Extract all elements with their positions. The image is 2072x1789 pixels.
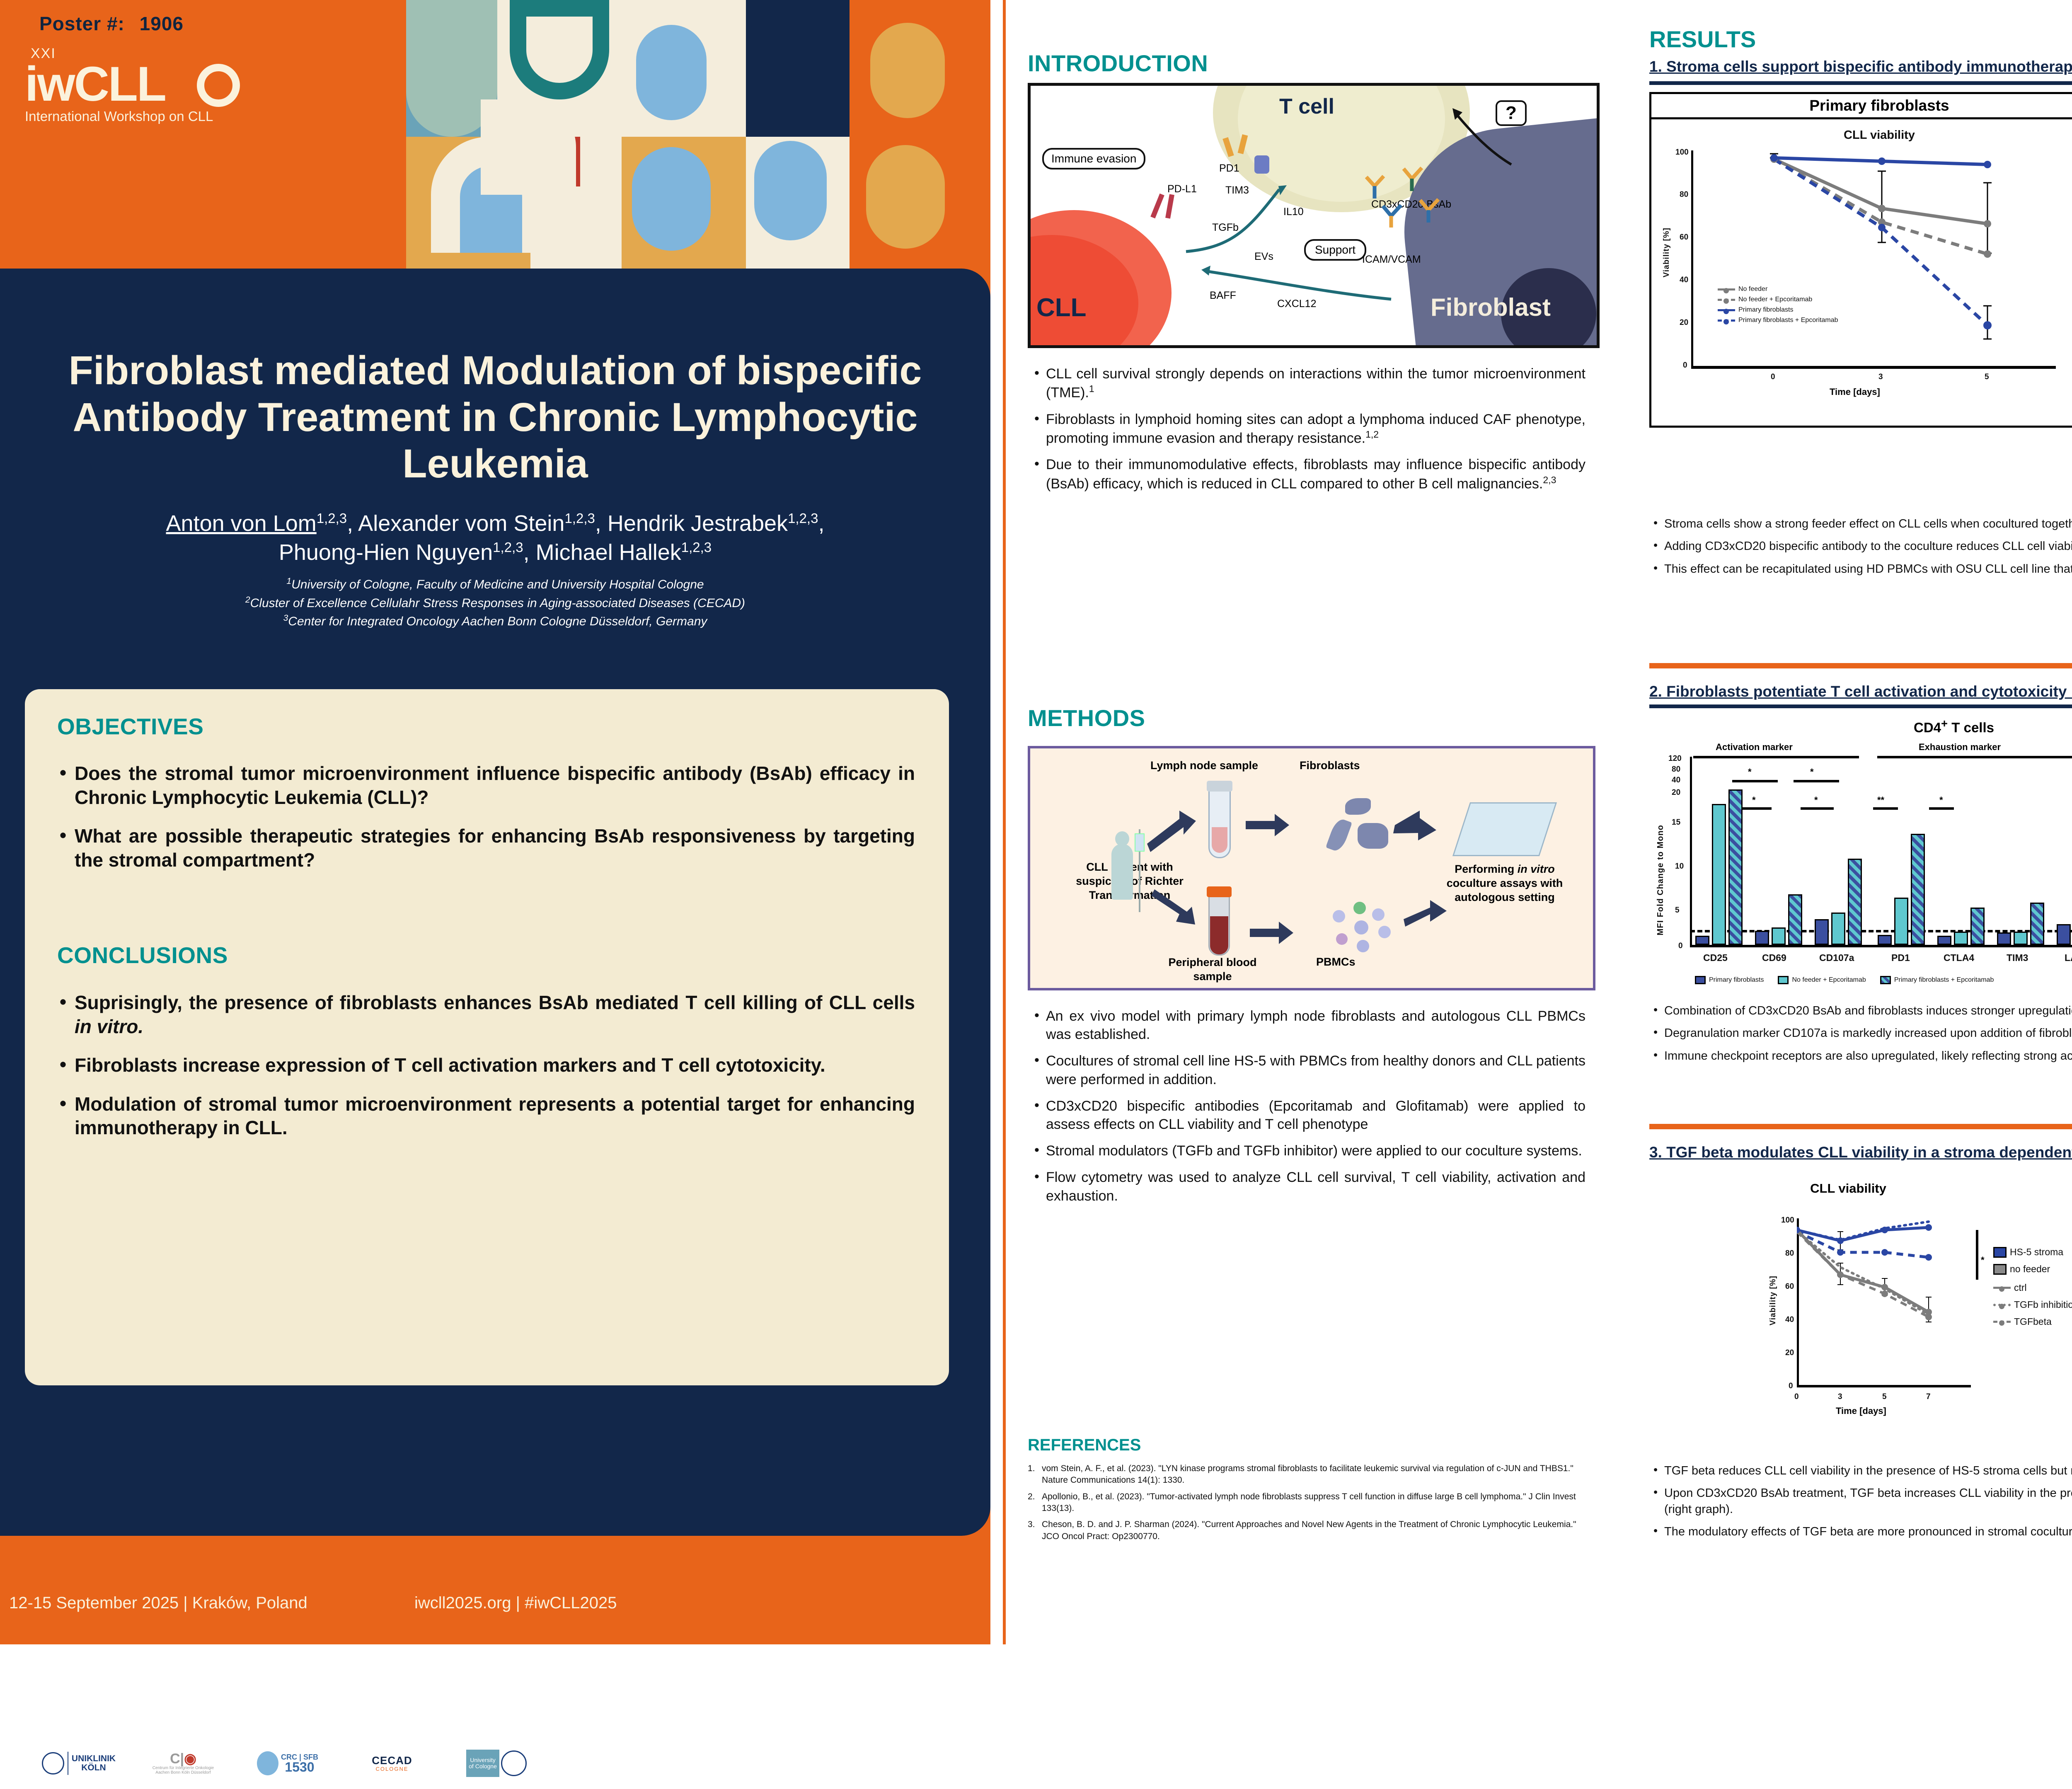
result1-bullet: Stroma cells show a strong feeder effect… — [1649, 516, 2072, 532]
tgfb-tc-legend-item: TGFb inhibition — [1993, 1299, 2072, 1310]
tgfb-tc-xtick: 0 — [1794, 1392, 1799, 1402]
cd4-chart-title: CD4+ T cells — [1653, 717, 2072, 736]
affiliation-item: 1University of Cologne, Faculty of Medic… — [37, 575, 953, 594]
panel-primary-fibroblasts: Primary fibroblasts CLL viability Viabil… — [1649, 92, 2072, 428]
cd4-xtick: TIM3 — [2007, 952, 2028, 963]
legend-line-icon — [1718, 288, 1735, 291]
author-list: Anton von Lom1,2,3, Alexander vom Stein1… — [37, 509, 953, 567]
contact-label: Contact: — [31, 1693, 94, 1712]
legend-swatch-icon — [1993, 1264, 2007, 1275]
poster-number-label: Poster #: — [39, 13, 125, 34]
introduction-heading: INTRODUCTION — [1028, 50, 1208, 77]
introduction-diagram: T cell CLL Fibroblast Immune evasion Sup… — [1028, 83, 1600, 348]
legend-line-icon — [1718, 299, 1735, 301]
legend-line-icon — [1993, 1304, 2011, 1306]
pf-ytick: 60 — [1680, 233, 1688, 242]
footer-website: iwcll2025.org | #iwCLL2025 — [414, 1594, 617, 1612]
methods-bullet: Stromal modulators (TGFb and TGFb inhibi… — [1030, 1142, 1585, 1160]
cecad-logo: CECAD COLOGNE — [343, 1738, 441, 1789]
tgfb-tc-xtick: 5 — [1882, 1392, 1887, 1402]
tgfb-tc-ytick: 60 — [1785, 1282, 1794, 1291]
cd4-ytick: 20 — [1672, 788, 1680, 797]
cd4-bar — [1772, 927, 1786, 945]
result1-separator — [1649, 663, 2072, 668]
tim3-receptor-icon — [1254, 155, 1269, 174]
tgfb-tc-sig: * — [1981, 1255, 1985, 1266]
methods-heading: METHODS — [1028, 704, 1145, 731]
cd4-bar — [1997, 932, 2011, 945]
introduction-bullets: CLL cell survival strongly depends on in… — [1030, 365, 1585, 501]
legend-line-icon — [1993, 1287, 2011, 1289]
references-heading: REFERENCES — [1028, 1436, 1141, 1455]
decorative-banner-artwork — [406, 0, 990, 274]
contact-email[interactable]: anton.von-lom@uk-koeln.de — [108, 1693, 321, 1712]
cd4-bar — [2014, 932, 2028, 945]
result1-bullet: Adding CD3xCD20 bispecific antibody to t… — [1649, 538, 2072, 554]
cd4-bar — [1695, 936, 1709, 945]
result2-rule — [1649, 704, 2072, 708]
cd4-bar — [1712, 804, 1726, 945]
poster-number: Poster #: 1906 — [39, 12, 184, 35]
results-heading: RESULTS — [1649, 26, 1756, 53]
cd4-bar — [1878, 935, 1892, 945]
result2-bullet: Immune checkpoint receptors are also upr… — [1649, 1048, 2072, 1064]
tgfb-tc-ytick: 80 — [1785, 1249, 1794, 1258]
pf-legend-item: No feeder — [1718, 286, 1838, 293]
cd4-ytick: 10 — [1675, 862, 1684, 871]
cd4-ytick: 120 — [1668, 754, 1682, 763]
tgfb-tc-legend-item: TGFbeta — [1993, 1316, 2072, 1327]
cd4-legend-item: No feeder + Epcoritamab — [1778, 976, 1866, 984]
pdl1-receptor-icon-2 — [1165, 194, 1174, 218]
cd4-bar — [1848, 859, 1862, 945]
introduction-bullet: CLL cell survival strongly depends on in… — [1030, 365, 1585, 402]
cd4-ytick: 0 — [1678, 942, 1683, 951]
conclusions-item: Fibroblasts increase expression of T cel… — [57, 1053, 915, 1077]
cd4-xtick: CD25 — [1703, 952, 1728, 963]
partner-logo-strip: UNIKLINIK KÖLN C|◉ Centrum für Integrier… — [30, 1738, 545, 1789]
legend-line-icon — [1718, 320, 1735, 322]
cll-label: CLL — [1036, 293, 1087, 322]
fibroblast-label: Fibroblast — [1431, 293, 1551, 322]
tgfb-tc-ytick: 100 — [1781, 1216, 1794, 1225]
cd4-xtick: CTLA4 — [1944, 952, 1974, 963]
footer-bar: 12-15 September 2025 | Kraków, Poland iw… — [0, 1566, 990, 1644]
cd4-bar — [1937, 936, 1951, 945]
pf-plot-area — [1691, 150, 2056, 367]
cd4-xtick: CD69 — [1762, 952, 1786, 963]
conclusions-item: Modulation of stromal tumor microenviron… — [57, 1092, 915, 1140]
result2-bullets: Combination of CD3xCD20 BsAb and fibrobl… — [1649, 1003, 2072, 1070]
tgfb-tc-sig-bracket — [1976, 1230, 1978, 1280]
pf-xtick: 0 — [1771, 373, 1775, 382]
methods-flow-arrows — [1030, 748, 1598, 993]
methods-bullets: An ex vivo model with primary lymph node… — [1030, 1007, 1585, 1213]
pf-legend-item: Primary fibroblasts + Epcoritamab — [1718, 317, 1838, 324]
pf-legend-item: Primary fibroblasts — [1718, 306, 1838, 314]
reference-item: 1. vom Stein, A. F., et al. (2023). "LYN… — [1028, 1463, 1591, 1486]
cd4-xtick: LAG3 — [2065, 952, 2072, 963]
page-title: Fibroblast mediated Modulation of bispec… — [37, 347, 953, 487]
cd4-legend-item: Primary fibroblasts + Epcoritamab — [1880, 976, 1994, 984]
cd4-bar — [1831, 913, 1845, 945]
iwcll-logo-subtitle: International Workshop on CLL — [25, 109, 240, 124]
title-panel: Fibroblast mediated Modulation of bispec… — [0, 269, 990, 1536]
result1-rule — [1649, 81, 2072, 85]
tgfb-tc-ytick: 0 — [1789, 1382, 1793, 1391]
cd4-bar — [1728, 789, 1743, 945]
cd4-bar — [1911, 834, 1925, 945]
t-cell-label: T cell — [1279, 94, 1334, 119]
result1-title: 1. Stroma cells support bispecific antib… — [1649, 58, 2072, 75]
panel-primary-fibroblasts-title: Primary fibroblasts — [1651, 94, 2072, 119]
cd4-legend: Primary fibroblasts No feeder + Epcorita… — [1695, 976, 1994, 987]
reference-item: 2. Apollonio, B., et al. (2023). "Tumor-… — [1028, 1491, 1591, 1515]
objectives-item: Does the stromal tumor microenvironment … — [57, 762, 915, 809]
conclusions-list: Suprisingly, the presence of fibroblasts… — [57, 991, 915, 1155]
cd4-bars — [1692, 742, 2072, 946]
ring-icon — [197, 64, 240, 107]
methods-diagram: Lymph node sample Fibroblasts CLL patien… — [1028, 746, 1595, 990]
tgfb-tc-legend-item: ctrl — [1993, 1282, 2072, 1293]
tgfb-tc-xtick: 3 — [1838, 1392, 1842, 1402]
cd4-y-axis-label: MFI Fold Change to Mono — [1656, 825, 1665, 935]
iwcll-logo: XXI iwCLL International Workshop on CLL — [25, 46, 240, 141]
cio-logo: C|◉ Centrum für Integrierte Onkologie Aa… — [134, 1738, 232, 1789]
references-list: 1. vom Stein, A. F., et al. (2023). "LYN… — [1028, 1463, 1591, 1547]
cd4-bar — [1970, 908, 1985, 945]
tgfb-tc-y-axis-label: Viability [%] — [1769, 1276, 1778, 1325]
pf-ytick: 80 — [1680, 190, 1688, 199]
result3-bullets: TGF beta reduces CLL cell viability in t… — [1649, 1463, 2072, 1546]
result2-bullet: Combination of CD3xCD20 BsAb and fibrobl… — [1649, 1003, 2072, 1019]
methods-bullet: Cocultures of stromal cell line HS-5 wit… — [1030, 1052, 1585, 1088]
chart-tgfb-timecourse: CLL viability Viability [%] 100 80 60 40… — [1662, 1181, 2072, 1446]
pf-legend: No feeder No feeder + Epcoritamab Primar… — [1718, 286, 1838, 327]
cd4-bar — [1894, 898, 1908, 945]
tgfb-tc-xtick: 7 — [1926, 1392, 1931, 1402]
tgfb-tc-legend-item: HS-5 stroma — [1993, 1247, 2072, 1258]
tgfb-tc-plot-area — [1797, 1218, 1971, 1386]
tgfb-tc-legend: HS-5 stroma no feeder ctrl TGFb inhibiti… — [1993, 1247, 2072, 1330]
tgfb-tc-ytick: 40 — [1785, 1315, 1794, 1324]
result3-title: 3. TGF beta modulates CLL viability in a… — [1649, 1144, 2072, 1161]
result2-title: 2. Fibroblasts potentiate T cell activat… — [1649, 683, 2072, 700]
pf-xtick: 3 — [1878, 373, 1883, 382]
right-column: RESULTS 1. Stroma cells support bispecif… — [1629, 0, 2072, 1644]
bsab-antibody-icons — [1358, 160, 1453, 231]
legend-swatch-icon — [1778, 976, 1789, 984]
chart-cd4-t-cells: CD4+ T cells MFI Fold Change to Mono Act… — [1653, 717, 2072, 974]
footer-date-location: 12-15 September 2025 | Kraków, Poland — [9, 1594, 307, 1612]
pf-ytick: 40 — [1680, 276, 1688, 285]
pf-legend-item: No feeder + Epcoritamab — [1718, 296, 1838, 303]
result1-bullet: This effect can be recapitulated using H… — [1649, 561, 2072, 577]
conclusions-heading: CONCLUSIONS — [57, 942, 228, 968]
cytokine-arrow-icon — [1184, 181, 1333, 256]
affiliation-list: 1University of Cologne, Faculty of Medic… — [37, 575, 953, 631]
pf-ytick: 0 — [1683, 361, 1687, 370]
methods-bullet: Flow cytometry was used to analyze CLL c… — [1030, 1168, 1585, 1205]
university-of-cologne-logo: University of Cologne — [448, 1738, 545, 1789]
result3-bullet: The modulatory effects of TGF beta are m… — [1649, 1524, 2072, 1540]
cd4-bar — [2030, 903, 2044, 945]
support-arrow-icon — [1196, 260, 1395, 305]
reference-item: 3. Cheson, B. D. and J. P. Sharman (2024… — [1028, 1519, 1591, 1542]
crc-sfb-1530-logo: CRC | SFB 1530 — [239, 1738, 336, 1789]
tgfb-tc-ytick: 20 — [1785, 1348, 1794, 1358]
objectives-list: Does the stromal tumor microenvironment … — [57, 762, 915, 887]
methods-bullet: CD3xCD20 bispecific antibodies (Epcorita… — [1030, 1097, 1585, 1133]
pf-x-axis-label: Time [days] — [1830, 387, 1880, 397]
methods-bullet: An ex vivo model with primary lymph node… — [1030, 1007, 1585, 1043]
pf-ytick: 20 — [1680, 318, 1688, 327]
objectives-heading: OBJECTIVES — [57, 713, 203, 740]
label-pd1: PD1 — [1219, 162, 1239, 174]
affiliation-item: 2Cluster of Excellence Cellulahr Stress … — [37, 594, 953, 612]
cd4-ytick: 5 — [1675, 906, 1680, 915]
result2-separator — [1649, 1124, 2072, 1129]
cd4-xtick: CD107a — [1819, 952, 1854, 963]
cd4-ytick: 40 — [1672, 776, 1680, 785]
legend-line-icon — [1993, 1321, 2011, 1323]
uniklinik-koeln-logo: UNIKLINIK KÖLN — [30, 1738, 128, 1789]
result3-bullet: TGF beta reduces CLL cell viability in t… — [1649, 1463, 2072, 1479]
left-column: Poster #: 1906 XXI iwCLL International W… — [0, 0, 990, 1644]
pf-xtick: 5 — [1985, 373, 1989, 382]
conclusions-item: Suprisingly, the presence of fibroblasts… — [57, 991, 915, 1039]
cd4-bar — [1815, 919, 1829, 945]
result1-bullets: Stroma cells show a strong feeder effect… — [1649, 516, 2072, 583]
objectives-item: What are possible therapeutic strategies… — [57, 824, 915, 872]
cd4-ytick: 15 — [1672, 818, 1680, 827]
tgfb-tc-x-axis-label: Time [days] — [1836, 1406, 1886, 1416]
introduction-bullet: Fibroblasts in lymphoid homing sites can… — [1030, 410, 1585, 448]
cd4-bar — [1755, 931, 1769, 945]
affiliation-item: 3Center for Integrated Oncology Aachen B… — [37, 612, 953, 631]
result2-bullet: Degranulation marker CD107a is markedly … — [1649, 1025, 2072, 1041]
cd4-xtick: PD1 — [1891, 952, 1910, 963]
cd4-legend-item: Primary fibroblasts — [1695, 976, 1764, 984]
objectives-conclusions-box: OBJECTIVES Does the stromal tumor microe… — [25, 689, 949, 1385]
tgfb-tc-legend-item: no feeder — [1993, 1264, 2072, 1275]
cd4-bar — [2057, 924, 2071, 945]
legend-line-icon — [1718, 309, 1735, 311]
question-arrow-icon — [1445, 102, 1520, 173]
immune-evasion-badge: Immune evasion — [1042, 148, 1145, 169]
pf-y-axis-label: Viability [%] — [1662, 228, 1671, 277]
legend-swatch-icon — [1880, 976, 1891, 984]
introduction-bullet: Due to their immunomodulative effects, f… — [1030, 455, 1585, 493]
cd4-bar — [1788, 894, 1802, 945]
pdl1-receptor-icon — [1150, 194, 1164, 218]
contact-line: Contact: anton.von-lom@uk-koeln.de — [31, 1693, 321, 1712]
middle-column: INTRODUCTION T cell CLL Fibroblast Immun… — [1003, 0, 1629, 1644]
result3-bullet: Upon CD3xCD20 BsAb treatment, TGF beta i… — [1649, 1485, 2072, 1517]
tgfb-tc-title: CLL viability — [1662, 1181, 2035, 1196]
poster-number-value: 1906 — [140, 13, 184, 34]
legend-swatch-icon — [1993, 1247, 2007, 1258]
cd4-ytick: 80 — [1672, 765, 1680, 774]
cd4-bar — [1954, 932, 1968, 945]
pf-ytick: 100 — [1675, 148, 1689, 157]
legend-swatch-icon — [1695, 976, 1706, 984]
